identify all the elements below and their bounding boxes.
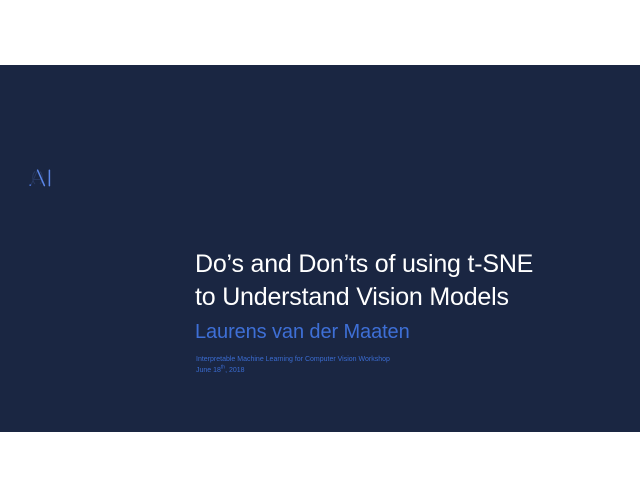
- slide-title-line-1: Do’s and Don’ts of using t-SNE: [195, 248, 615, 281]
- slide-venue: Interpretable Machine Learning for Compu…: [196, 354, 390, 365]
- slide-date: June 18th, 2018: [196, 365, 390, 376]
- slide-date-suffix: , 2018: [225, 367, 244, 374]
- slide-meta: Interpretable Machine Learning for Compu…: [196, 354, 390, 376]
- slide-title-line-2: to Understand Vision Models: [195, 281, 615, 314]
- slide-title: Do’s and Don’ts of using t-SNE to Unders…: [195, 248, 615, 314]
- slide-date-prefix: June 18: [196, 367, 221, 374]
- presentation-slide: Do’s and Don’ts of using t-SNE to Unders…: [0, 65, 640, 432]
- slide-author: Laurens van der Maaten: [195, 319, 410, 345]
- slide-viewer: Do’s and Don’ts of using t-SNE to Unders…: [0, 0, 640, 495]
- facebook-ai-logo: [22, 165, 62, 193]
